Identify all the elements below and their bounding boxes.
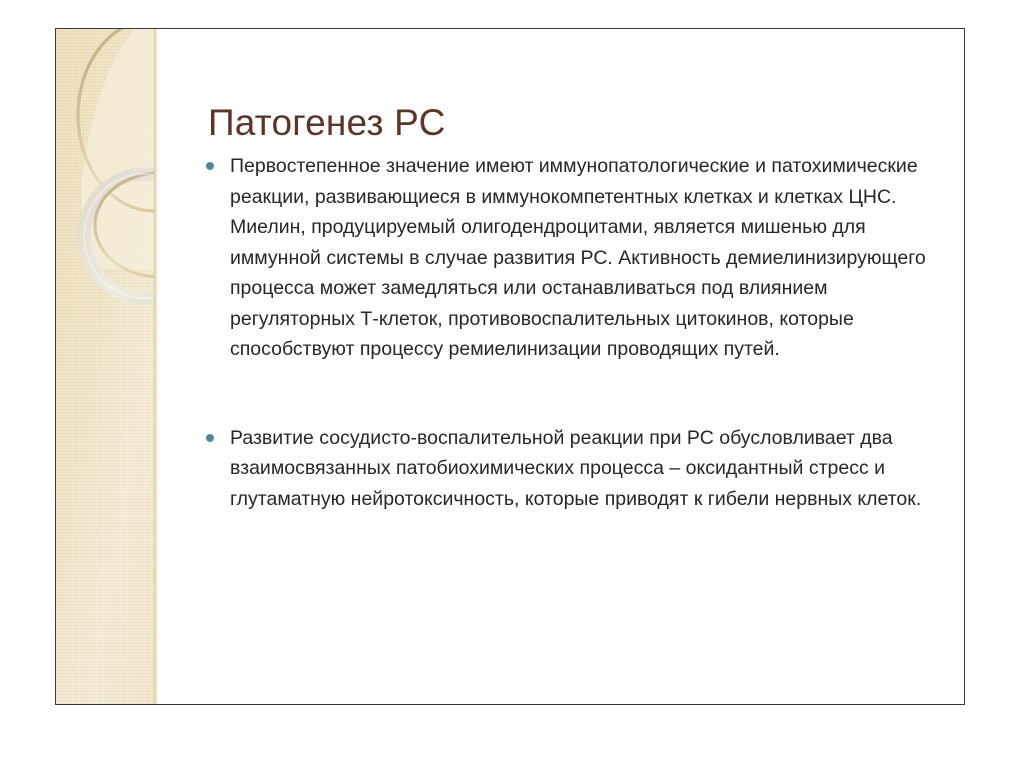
list-item-text: Первостепенное значение имеют иммунопато… <box>230 151 926 365</box>
slide-body-content: Первостепенное значение имеют иммунопато… <box>206 151 926 514</box>
bullet-spacer <box>206 365 926 423</box>
page-title: Патогенез РС <box>208 102 446 144</box>
circles-ring-decoration-icon <box>56 29 154 704</box>
list-item: Первостепенное значение имеют иммунопато… <box>206 151 926 365</box>
bullet-dot-icon <box>206 151 230 170</box>
presentation-slide: Патогенез РС Первостепенное значение име… <box>55 28 965 705</box>
slide-sidebar-decoration <box>56 29 154 704</box>
bullet-dot-icon <box>206 423 230 442</box>
sidebar-edge-line <box>154 29 158 704</box>
list-item-text: Развитие сосудисто-воспалительной реакци… <box>230 423 926 515</box>
list-item: Развитие сосудисто-воспалительной реакци… <box>206 423 926 515</box>
